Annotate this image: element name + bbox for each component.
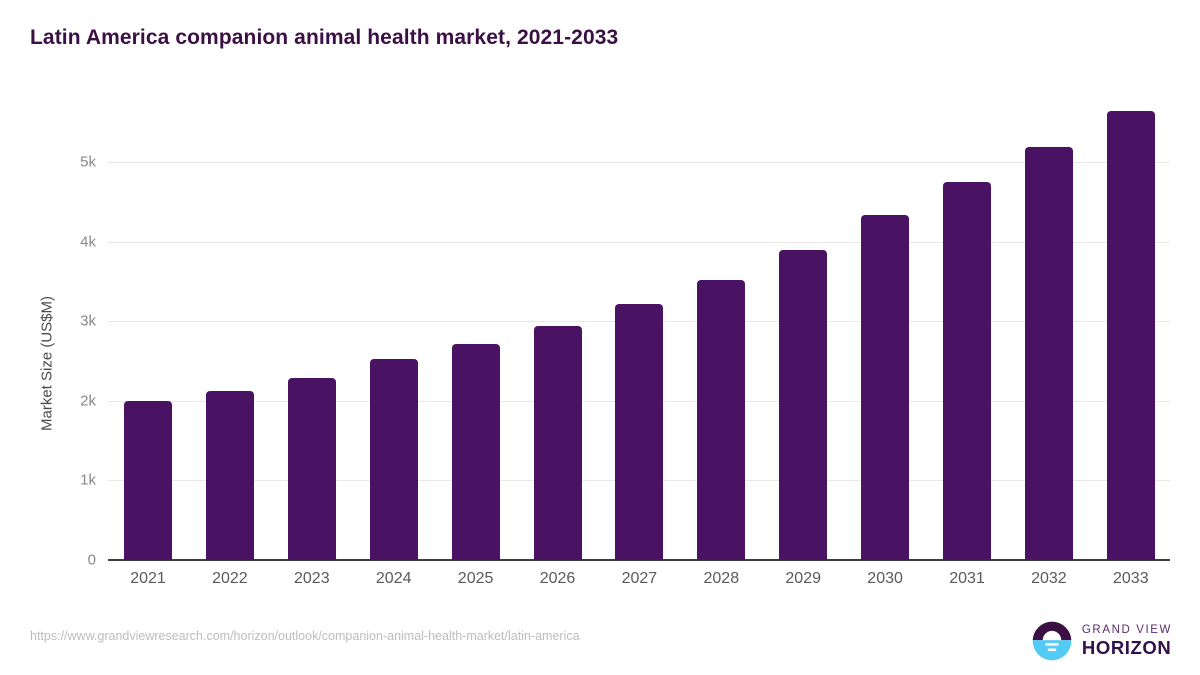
x-axis-tick-label: 2030 (845, 570, 925, 588)
x-axis-tick-label: 2024 (354, 570, 434, 588)
x-axis-tick-label: 2025 (436, 570, 516, 588)
bar[interactable] (943, 182, 991, 560)
x-axis-tick-label: 2027 (599, 570, 679, 588)
logo-bottom-line: HORIZON (1082, 639, 1172, 658)
logo-top-line: GRAND VIEW (1082, 625, 1172, 637)
x-axis-tick-label: 2029 (763, 570, 843, 588)
bar[interactable] (452, 344, 500, 561)
x-axis-tick-label: 2031 (927, 570, 1007, 588)
bar[interactable] (534, 326, 582, 560)
x-axis-tick-label: 2032 (1009, 570, 1089, 588)
bar[interactable] (124, 401, 172, 560)
horizon-circle-icon (1031, 620, 1073, 662)
bar[interactable] (779, 250, 827, 560)
x-axis-tick-label: 2021 (108, 570, 188, 588)
bar[interactable] (861, 215, 909, 560)
plot-area: Market Size (US$M) 01k2k3k4k5k 202120222… (0, 0, 1200, 675)
source-url[interactable]: https://www.grandviewresearch.com/horizo… (30, 629, 580, 643)
x-axis-tick-label: 2028 (681, 570, 761, 588)
grand-view-horizon-logo[interactable]: GRAND VIEW HORIZON (1031, 620, 1172, 662)
chart-page: Latin America companion animal health ma… (0, 0, 1200, 675)
bar[interactable] (288, 378, 336, 560)
bar[interactable] (697, 280, 745, 560)
bar[interactable] (1025, 147, 1073, 560)
x-axis-tick-label: 2033 (1091, 570, 1171, 588)
x-axis-tick-label: 2022 (190, 570, 270, 588)
x-axis-tick-label: 2026 (518, 570, 598, 588)
bar[interactable] (206, 391, 254, 560)
bar[interactable] (1107, 111, 1155, 560)
bar[interactable] (370, 359, 418, 560)
x-axis-tick-label: 2023 (272, 570, 352, 588)
bar[interactable] (615, 304, 663, 560)
logo-wordmark: GRAND VIEW HORIZON (1082, 625, 1172, 658)
